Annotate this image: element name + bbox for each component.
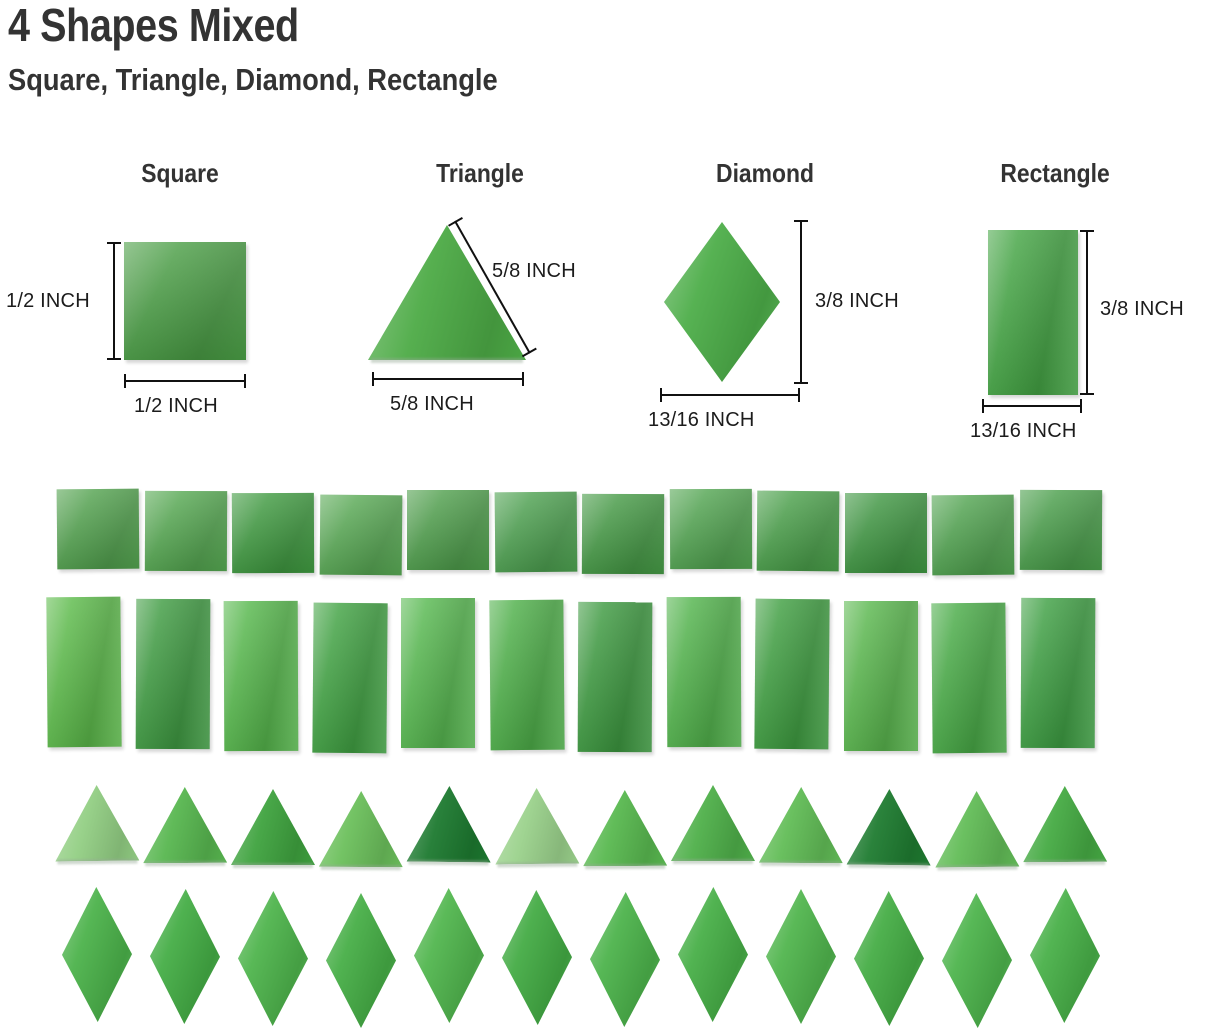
triangle-tile	[583, 790, 667, 866]
rectangle-tile	[224, 601, 299, 751]
rectangle-tile	[666, 597, 741, 747]
triangle-base-edge	[233, 863, 314, 868]
rectangle-tile	[844, 601, 918, 751]
diamond-gloss	[589, 892, 660, 1028]
triangle-tile	[319, 791, 403, 867]
diamond-tile	[326, 893, 396, 1028]
rectangle-tile	[754, 599, 829, 750]
diamond-gloss	[766, 889, 836, 1024]
rectangle-tile	[489, 600, 564, 751]
square-tile	[1019, 490, 1101, 570]
diamond-gloss	[678, 887, 749, 1022]
triangle-base-edge	[585, 864, 666, 869]
diamond-tile	[501, 890, 572, 1026]
triangle-tile	[143, 787, 227, 863]
triangle-base-edge	[145, 861, 226, 866]
diamond-tile	[854, 891, 925, 1026]
triangle-base-edge	[760, 861, 841, 866]
square-tile	[232, 493, 314, 573]
triangle-gloss	[143, 787, 227, 863]
square-tile	[757, 491, 840, 572]
triangle-gloss	[583, 790, 667, 866]
diamond-tile	[238, 891, 309, 1026]
diamond-gloss	[941, 893, 1012, 1029]
triangle-tile	[55, 785, 140, 862]
square-tile	[407, 490, 489, 570]
square-tile	[494, 492, 577, 573]
diamond-gloss	[238, 891, 309, 1026]
diamond-gloss	[149, 889, 220, 1025]
diamond-tile	[414, 888, 485, 1023]
triangle-gloss	[407, 786, 492, 863]
triangle-base-edge	[497, 862, 578, 868]
triangle-tile	[407, 786, 492, 863]
triangle-gloss	[231, 789, 315, 865]
triangle-gloss	[671, 785, 755, 861]
rectangle-tile	[578, 602, 653, 752]
diamond-gloss	[326, 893, 396, 1028]
triangle-gloss	[319, 791, 403, 867]
square-tile	[845, 493, 927, 573]
triangle-base-edge	[937, 865, 1018, 871]
diamond-tile	[678, 887, 749, 1022]
rectangle-tile	[135, 599, 210, 749]
triangle-base-edge	[1025, 860, 1106, 865]
triangle-gloss	[495, 788, 580, 865]
triangle-tile	[671, 785, 755, 861]
triangle-gloss	[935, 791, 1020, 868]
triangle-base-edge	[408, 860, 489, 866]
triangle-base-edge	[848, 863, 929, 869]
diamond-gloss	[414, 888, 485, 1023]
rectangle-tile	[46, 597, 121, 748]
rectangle-tile	[401, 598, 475, 748]
diamond-tile	[766, 889, 836, 1024]
triangle-base-edge	[320, 865, 401, 870]
triangle-gloss	[1023, 786, 1107, 862]
square-tile	[932, 495, 1015, 576]
triangle-tile	[231, 789, 315, 865]
diamond-gloss	[854, 891, 925, 1026]
rectangle-tile	[1020, 598, 1095, 748]
triangle-base-edge	[673, 859, 754, 864]
diamond-tile	[941, 893, 1012, 1029]
diamond-tile	[1029, 888, 1100, 1024]
rectangle-tile	[312, 603, 387, 754]
square-tile	[57, 489, 140, 570]
triangle-tile	[935, 791, 1020, 868]
diamond-gloss	[1029, 888, 1100, 1024]
triangle-tile	[759, 787, 843, 863]
triangle-tile	[847, 789, 932, 866]
square-tile	[669, 489, 751, 569]
square-tile	[319, 495, 402, 576]
diamond-gloss	[501, 890, 572, 1026]
diamond-tile	[61, 887, 132, 1023]
triangle-base-edge	[57, 859, 138, 865]
triangle-gloss	[759, 787, 843, 863]
triangle-gloss	[55, 785, 140, 862]
triangle-gloss	[847, 789, 932, 866]
square-tile	[582, 494, 664, 574]
triangle-tile	[1023, 786, 1107, 862]
rectangle-tile	[931, 603, 1006, 754]
diamond-tile	[149, 889, 220, 1025]
triangle-tile	[495, 788, 580, 865]
tile-grid	[0, 0, 1205, 1033]
square-tile	[144, 491, 226, 571]
diamond-gloss	[61, 887, 132, 1023]
diamond-tile	[589, 892, 660, 1028]
